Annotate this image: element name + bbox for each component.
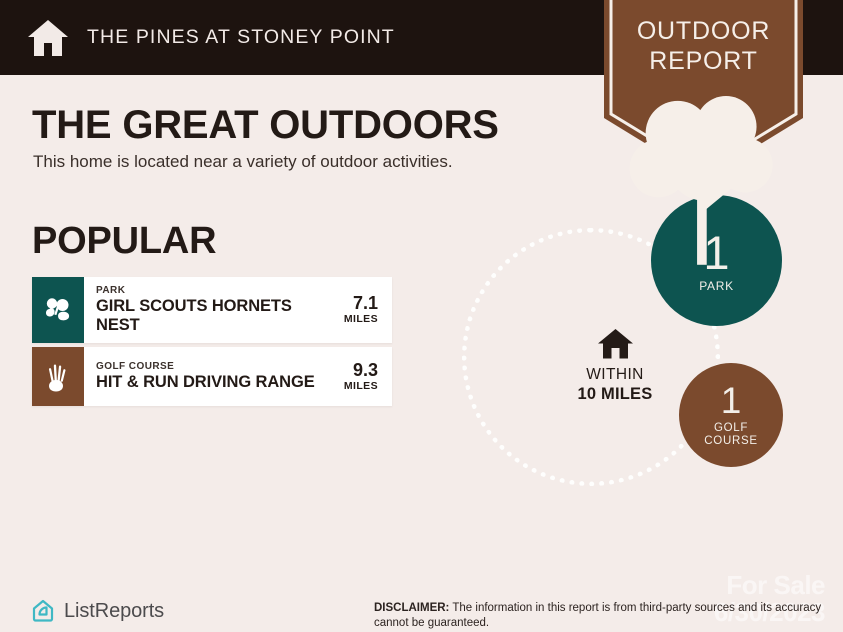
home-icon — [597, 328, 634, 360]
listreports-logo[interactable]: ListReports — [30, 598, 164, 624]
golf-icon-block — [32, 347, 84, 406]
bubble-park-count: 1 — [703, 229, 729, 276]
popular-list: PARK GIRL SCOUTS HORNETS NEST 7.1 MILES — [32, 277, 392, 410]
list-item-distance-unit: MILES — [334, 380, 378, 392]
list-item-distance: 9.3 MILES — [334, 361, 388, 392]
section-heading-popular: POPULAR — [32, 220, 216, 263]
listreports-house-icon — [30, 598, 56, 624]
park-icon-block — [32, 277, 84, 343]
list-item-name: HIT & RUN DRIVING RANGE — [96, 373, 334, 392]
park-trees-icon — [43, 297, 73, 323]
watermark-line1: For Sale — [714, 572, 825, 598]
center-home-wrap — [560, 328, 670, 360]
bubble-park-label: PARK — [699, 280, 734, 293]
list-item-category: GOLF COURSE — [96, 360, 334, 373]
list-item-body: PARK GIRL SCOUTS HORNETS NEST 7.1 MILES — [84, 277, 392, 343]
disclaimer-label: DISCLAIMER: — [374, 602, 449, 614]
center-within-label: WITHIN — [560, 365, 670, 384]
list-item-body: GOLF COURSE HIT & RUN DRIVING RANGE 9.3 … — [84, 347, 392, 406]
page-subtitle: This home is located near a variety of o… — [33, 152, 453, 172]
page-title: THE GREAT OUTDOORS — [32, 101, 499, 149]
bubble-golf-count: 1 — [721, 382, 742, 419]
header-title: THE PINES AT STONEY POINT — [87, 26, 395, 49]
listreports-logo-text: ListReports — [64, 600, 164, 623]
outdoor-report-badge: OUTDOOR REPORT — [604, 0, 803, 180]
home-icon — [27, 18, 69, 58]
list-item-distance-value: 7.1 — [334, 294, 378, 313]
outdoor-report-page: THE PINES AT STONEY POINT OUTDOOR REPORT — [0, 0, 843, 632]
disclaimer: DISCLAIMER: The information in this repo… — [374, 601, 829, 631]
list-item-name: GIRL SCOUTS HORNETS NEST — [96, 297, 334, 335]
list-item[interactable]: GOLF COURSE HIT & RUN DRIVING RANGE 9.3 … — [32, 347, 392, 406]
golf-glove-icon — [45, 362, 71, 392]
list-item-distance-value: 9.3 — [334, 361, 378, 380]
list-item-texts: PARK GIRL SCOUTS HORNETS NEST — [96, 284, 334, 335]
list-item[interactable]: PARK GIRL SCOUTS HORNETS NEST 7.1 MILES — [32, 277, 392, 343]
bubble-golf-label-line1: GOLF — [704, 422, 757, 435]
list-item-distance: 7.1 MILES — [334, 294, 388, 325]
bubble-golf-course[interactable]: 1 GOLF COURSE — [679, 363, 783, 467]
list-item-category: PARK — [96, 284, 334, 297]
center-miles-label: 10 MILES — [560, 384, 670, 404]
badge-shield-shape — [604, 0, 803, 180]
bubble-golf-label: GOLF COURSE — [704, 422, 757, 448]
radius-diagram: WITHIN 10 MILES 1 PARK 1 GOLF COURSE — [440, 180, 843, 540]
list-item-distance-unit: MILES — [334, 313, 378, 325]
bubble-golf-label-line2: COURSE — [704, 435, 757, 448]
diagram-center: WITHIN 10 MILES — [560, 328, 670, 404]
list-item-texts: GOLF COURSE HIT & RUN DRIVING RANGE — [96, 360, 334, 392]
bubble-park[interactable]: 1 PARK — [651, 195, 782, 326]
